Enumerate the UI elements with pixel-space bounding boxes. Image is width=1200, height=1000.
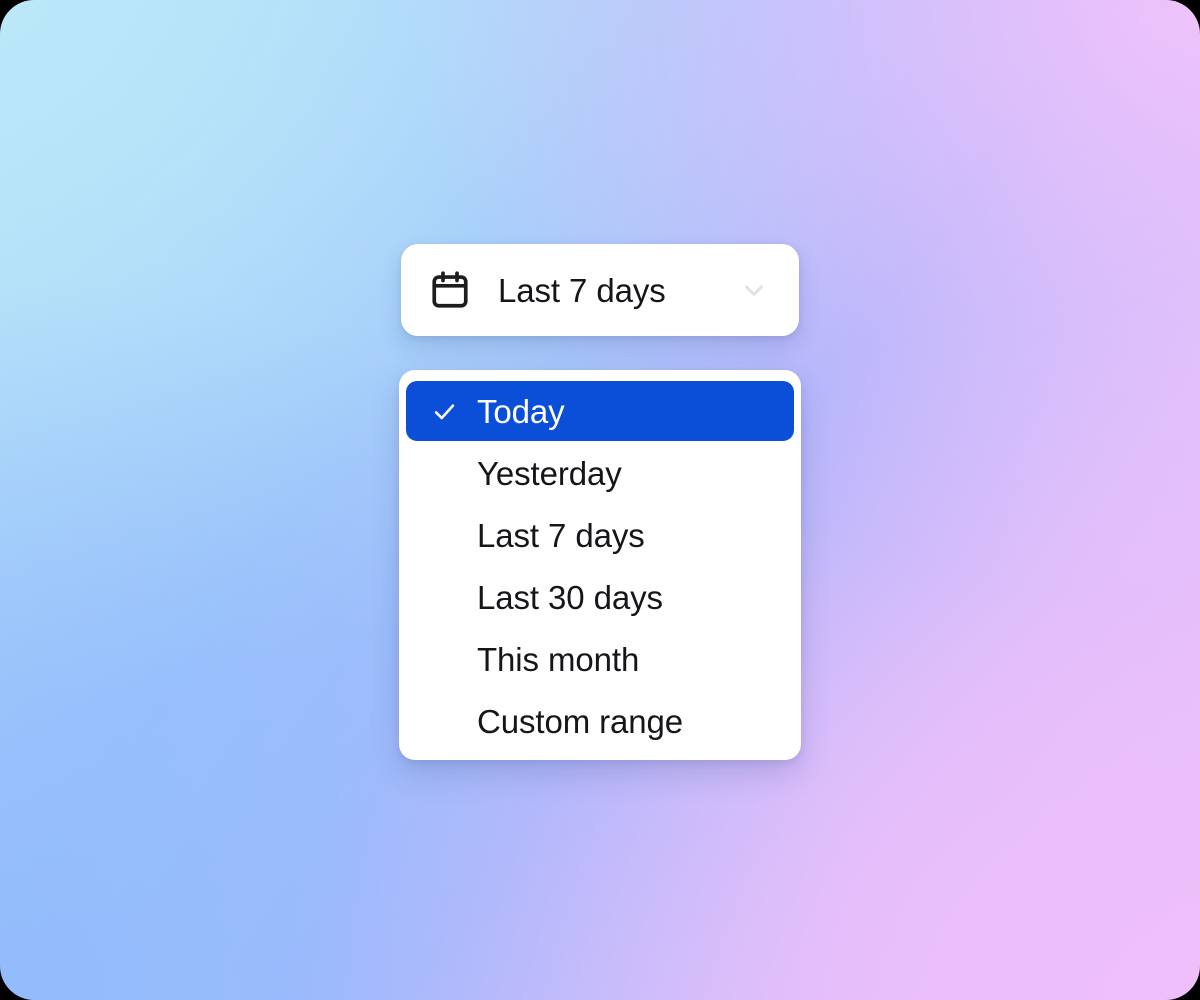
- check-slot: [431, 398, 461, 425]
- menu-item-last-30-days[interactable]: Last 30 days: [406, 567, 794, 627]
- check-icon: [431, 398, 458, 425]
- menu-item-this-month[interactable]: This month: [406, 629, 794, 689]
- menu-item-label: This month: [477, 643, 639, 676]
- app-canvas: Last 7 days Today Yesterday Last 7 days …: [0, 0, 1200, 1000]
- menu-item-custom-range[interactable]: Custom range: [406, 691, 794, 751]
- menu-item-today[interactable]: Today: [406, 381, 794, 441]
- date-range-value: Last 7 days: [498, 274, 739, 307]
- calendar-icon: [429, 269, 471, 311]
- menu-item-label: Last 7 days: [477, 519, 645, 552]
- menu-item-label: Yesterday: [477, 457, 622, 490]
- chevron-down-icon[interactable]: [739, 275, 769, 305]
- date-range-menu: Today Yesterday Last 7 days Last 30 days…: [399, 370, 801, 760]
- menu-item-yesterday[interactable]: Yesterday: [406, 443, 794, 503]
- menu-item-label: Last 30 days: [477, 581, 663, 614]
- menu-item-label: Today: [477, 395, 565, 428]
- menu-item-last-7-days[interactable]: Last 7 days: [406, 505, 794, 565]
- date-range-trigger[interactable]: Last 7 days: [401, 244, 799, 336]
- menu-item-label: Custom range: [477, 705, 683, 738]
